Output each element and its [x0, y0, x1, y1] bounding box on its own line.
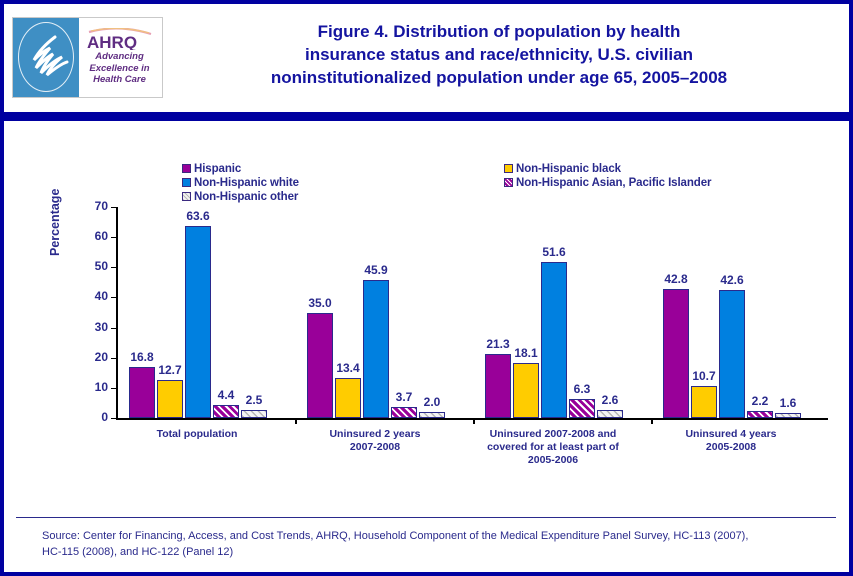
bar-value-label: 42.8 [656, 272, 696, 286]
chart-plot-area: Percentage 010203040506070 16.812.763.64… [4, 4, 849, 572]
bar-hispanic-group-3[interactable] [485, 354, 511, 418]
x-axis-group-label-line: 2005-2008 [637, 441, 825, 454]
y-axis-tick-mark [111, 207, 116, 208]
y-axis-tick-mark [111, 267, 116, 268]
bar-value-label: 2.0 [412, 395, 452, 409]
y-axis-label: Percentage [48, 189, 62, 256]
bar-nhblack-group-1[interactable] [157, 380, 183, 418]
source-note-line1: Source: Center for Financing, Access, an… [42, 528, 832, 544]
bar-value-label: 51.6 [534, 245, 574, 259]
x-axis-group-label: Uninsured 2 years2007-2008 [281, 428, 469, 454]
x-axis-group-label: Total population [103, 428, 291, 441]
x-axis-group-label-line: 2007-2008 [281, 441, 469, 454]
bar-nhother-group-4[interactable] [775, 413, 801, 418]
y-axis-tick-label: 30 [82, 320, 108, 334]
x-axis-group-separator [651, 418, 653, 424]
bar-value-label: 63.6 [178, 209, 218, 223]
x-axis-group-label-line: Total population [103, 428, 291, 441]
y-axis-tick-label: 70 [82, 199, 108, 213]
source-note-line2: HC-115 (2008), and HC-122 (Panel 12) [42, 544, 832, 560]
bar-value-label: 42.6 [712, 273, 752, 287]
bar-nhasian-group-4[interactable] [747, 411, 773, 418]
figure-page: AHRQ Advancing Excellence in Health Care… [0, 0, 853, 576]
bar-value-label: 1.6 [768, 396, 808, 410]
bar-nhblack-group-3[interactable] [513, 363, 539, 418]
x-axis-group-label-line: covered for at least part of [459, 441, 647, 454]
bar-nhother-group-2[interactable] [419, 412, 445, 418]
y-axis-tick-mark [111, 237, 116, 238]
x-axis-group-label-line: Uninsured 2 years [281, 428, 469, 441]
y-axis-tick-label: 20 [82, 350, 108, 364]
y-axis-tick-label: 60 [82, 229, 108, 243]
y-axis-line [116, 207, 118, 419]
bar-value-label: 2.5 [234, 393, 274, 407]
y-axis-tick-mark [111, 418, 116, 419]
y-axis-tick-mark [111, 297, 116, 298]
y-axis-tick-mark [111, 358, 116, 359]
x-axis-group-label-line: 2005-2006 [459, 454, 647, 467]
bar-hispanic-group-4[interactable] [663, 289, 689, 418]
bar-value-label: 45.9 [356, 263, 396, 277]
bar-nhother-group-3[interactable] [597, 410, 623, 418]
footer-divider [16, 517, 836, 518]
bar-nhother-group-1[interactable] [241, 410, 267, 418]
y-axis-tick-label: 10 [82, 380, 108, 394]
bar-value-label: 2.6 [590, 393, 630, 407]
bar-value-label: 10.7 [684, 369, 724, 383]
x-axis-group-label: Uninsured 2007-2008 andcovered for at le… [459, 428, 647, 467]
x-axis-group-label: Uninsured 4 years2005-2008 [637, 428, 825, 454]
y-axis-tick-mark [111, 328, 116, 329]
bar-value-label: 18.1 [506, 346, 546, 360]
bar-nhblack-group-4[interactable] [691, 386, 717, 418]
bar-value-label: 35.0 [300, 296, 340, 310]
source-note: Source: Center for Financing, Access, an… [42, 528, 832, 560]
y-axis-tick-label: 0 [82, 410, 108, 424]
bar-nhblack-group-2[interactable] [335, 378, 361, 418]
y-axis-tick-label: 50 [82, 259, 108, 273]
y-axis-tick-mark [111, 388, 116, 389]
y-axis-tick-label: 40 [82, 289, 108, 303]
bar-value-label: 13.4 [328, 361, 368, 375]
x-axis-group-separator [295, 418, 297, 424]
x-axis-group-label-line: Uninsured 4 years [637, 428, 825, 441]
x-axis-group-separator [473, 418, 475, 424]
x-axis-line [116, 418, 828, 420]
bar-value-label: 12.7 [150, 363, 190, 377]
x-axis-group-label-line: Uninsured 2007-2008 and [459, 428, 647, 441]
